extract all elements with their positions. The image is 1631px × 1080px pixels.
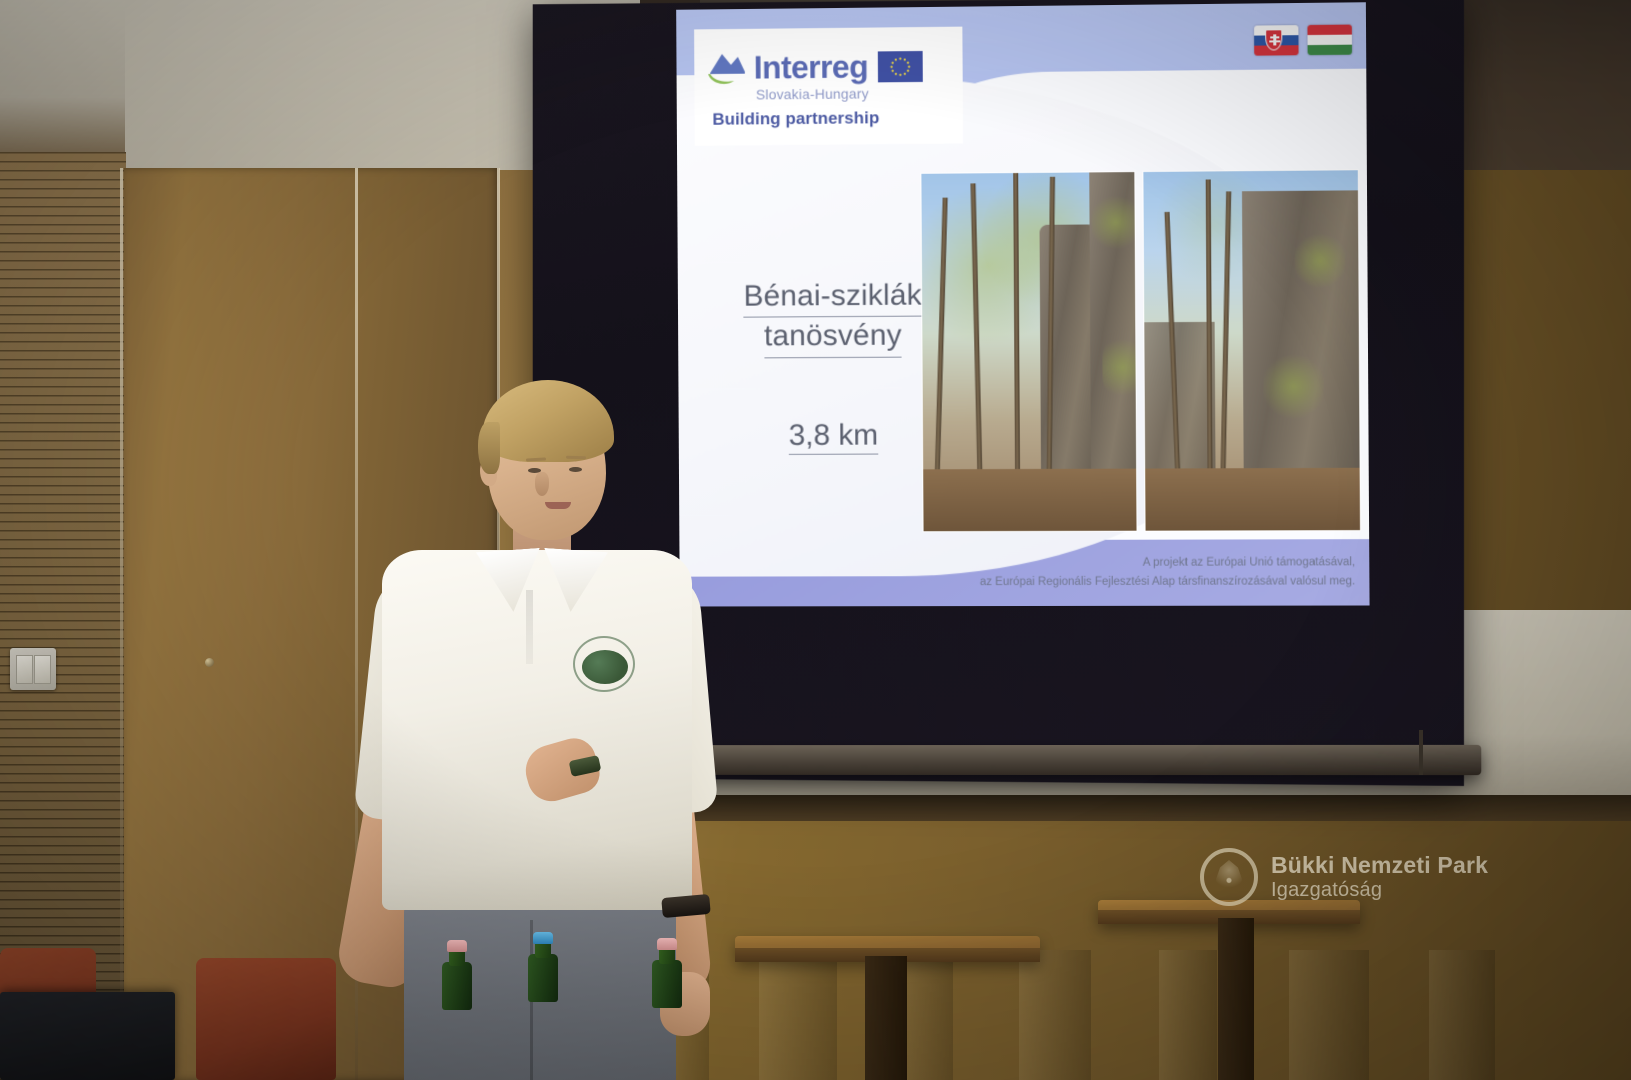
presenter-brow-right	[566, 456, 586, 460]
rock-formation-photo-2	[1143, 170, 1360, 530]
door-knob[interactable]	[205, 658, 214, 667]
presenter-eye-right	[569, 467, 582, 472]
interreg-wordmark: Interreg	[754, 51, 869, 84]
interreg-logo-box: Interreg	[694, 27, 963, 146]
slide-distance-value: 3,8 km	[789, 419, 879, 455]
slatted-wood-panel	[0, 152, 126, 1080]
slide-funding-footer: A projekt az Európai Unió támogatásával,…	[934, 553, 1356, 592]
slide-photo-group	[921, 170, 1360, 531]
door-seam-left	[120, 168, 123, 1080]
screen-pull-cord[interactable]	[1419, 730, 1423, 775]
slide-title: Bénai-sziklák tanösvény	[713, 276, 952, 358]
projected-slide: Interreg	[676, 2, 1369, 606]
bottle-1-cap	[447, 940, 467, 952]
presenter-nose	[535, 472, 549, 496]
interreg-subtitle: Slovakia-Hungary	[756, 85, 955, 103]
side-table-right-leg	[1218, 918, 1254, 1080]
slide-title-line1: Bénai-sziklák	[743, 277, 921, 318]
watermark-text: Bükki Nemzeti Park Igazgatóság	[1271, 852, 1488, 903]
presentation-photo-scene: Interreg	[0, 0, 1631, 1080]
watermark: Bükki Nemzeti Park Igazgatóság	[1200, 848, 1488, 906]
watermark-line1: Bükki Nemzeti Park	[1271, 852, 1488, 879]
wall-baseboard	[640, 795, 1631, 821]
wristwatch	[661, 894, 711, 918]
polo-placket	[526, 590, 533, 664]
slide-distance: 3,8 km	[714, 418, 953, 455]
eu-flag-emblem	[878, 50, 923, 81]
funding-footer-line2: az Európai Regionális Fejlesztési Alap t…	[934, 572, 1356, 592]
chair-right	[196, 958, 336, 1080]
presenter-hair-side	[478, 422, 500, 474]
side-table-left-leg	[865, 956, 907, 1080]
bnp-circular-emblem-icon	[1200, 848, 1258, 906]
rock-formation-photo-1	[921, 172, 1136, 531]
hungary-flag	[1307, 25, 1352, 56]
presenter-hair	[482, 380, 614, 462]
projector-screen-bottom-bar	[692, 745, 1481, 775]
slovakia-flag	[1254, 25, 1299, 56]
watermark-line2: Igazgatóság	[1271, 879, 1488, 903]
country-flags	[1254, 25, 1352, 56]
funding-footer-line1: A projekt az Európai Unió támogatásával,	[934, 553, 1356, 573]
interreg-tagline: Building partnership	[712, 108, 955, 130]
interreg-mountain-icon	[704, 47, 749, 89]
slovakia-coat-of-arms	[1265, 29, 1282, 50]
white-polo-shirt	[382, 550, 692, 910]
park-ranger-crest-icon	[573, 636, 635, 692]
slide-title-line2: tanösvény	[764, 317, 902, 358]
laptop-screen[interactable]	[0, 992, 175, 1080]
presenter-mouth	[545, 502, 571, 509]
light-switch[interactable]	[10, 648, 56, 690]
bottle-3-cap	[657, 938, 677, 950]
bottle-2-cap	[533, 932, 553, 944]
interreg-logo-row: Interreg	[704, 45, 955, 89]
slovakia-double-cross-icon	[1273, 34, 1276, 45]
